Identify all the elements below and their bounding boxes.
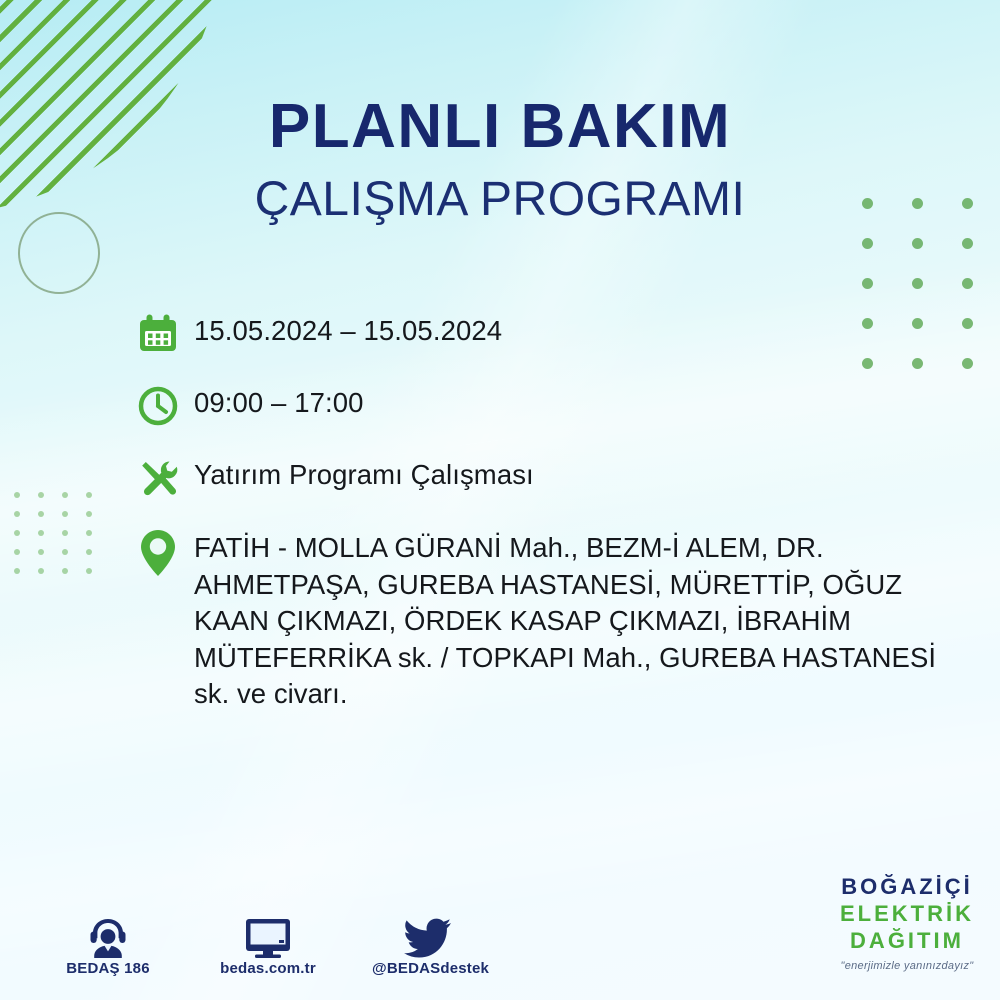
page-subtitle: ÇALIŞMA PROGRAMI [0,176,1000,224]
info-row-work-type: Yatırım Programı Çalışması [136,456,966,506]
contact-phone[interactable]: BEDAŞ 186 [52,910,164,978]
bedas-logo: BOĞAZİÇİ ELEKTRİK DAĞITIM "enerjimizle y… [840,876,974,972]
contact-website-label: bedas.com.tr [220,960,316,977]
headset-support-icon [52,910,164,960]
brand-tagline: "enerjimizle yanınızdayız" [840,961,974,972]
contact-twitter[interactable]: @BEDASdestek [372,910,484,978]
tools-icon [136,456,194,506]
brand-line-3: DAĞITIM [840,930,974,952]
info-list: 15.05.2024 – 15.05.2024 09:00 – 17:00 [136,312,966,713]
page-title: PLANLI BAKIM [0,96,1000,158]
date-range-text: 15.05.2024 – 15.05.2024 [194,312,502,346]
work-type-text: Yatırım Programı Çalışması [194,456,534,490]
time-range-text: 09:00 – 17:00 [194,384,364,418]
contact-twitter-label: @BEDASdestek [372,960,489,977]
poster-header: PLANLI BAKIM ÇALIŞMA PROGRAMI [0,96,1000,224]
info-row-address: FATİH - MOLLA GÜRANİ Mah., BEZM-İ ALEM, … [136,528,966,713]
circle-outline-decoration [18,212,100,294]
contact-phone-label: BEDAŞ 186 [66,960,150,977]
contact-website[interactable]: bedas.com.tr [212,910,324,978]
monitor-website-icon [212,910,324,960]
clock-icon [136,384,194,434]
info-row-time: 09:00 – 17:00 [136,384,966,434]
dot-grid-left-decoration [14,492,110,587]
info-row-date: 15.05.2024 – 15.05.2024 [136,312,966,362]
brand-line-2: ELEKTRİK [840,903,974,925]
location-pin-icon [136,528,194,578]
poster-root: PLANLI BAKIM ÇALIŞMA PROGRAMI [0,0,1000,1000]
calendar-icon [136,312,194,362]
address-text: FATİH - MOLLA GÜRANİ Mah., BEZM-İ ALEM, … [194,528,964,713]
twitter-bird-icon [372,910,484,960]
footer-contacts: BEDAŞ 186 bedas.com.tr [52,910,484,978]
brand-line-1: BOĞAZİÇİ [840,876,974,898]
